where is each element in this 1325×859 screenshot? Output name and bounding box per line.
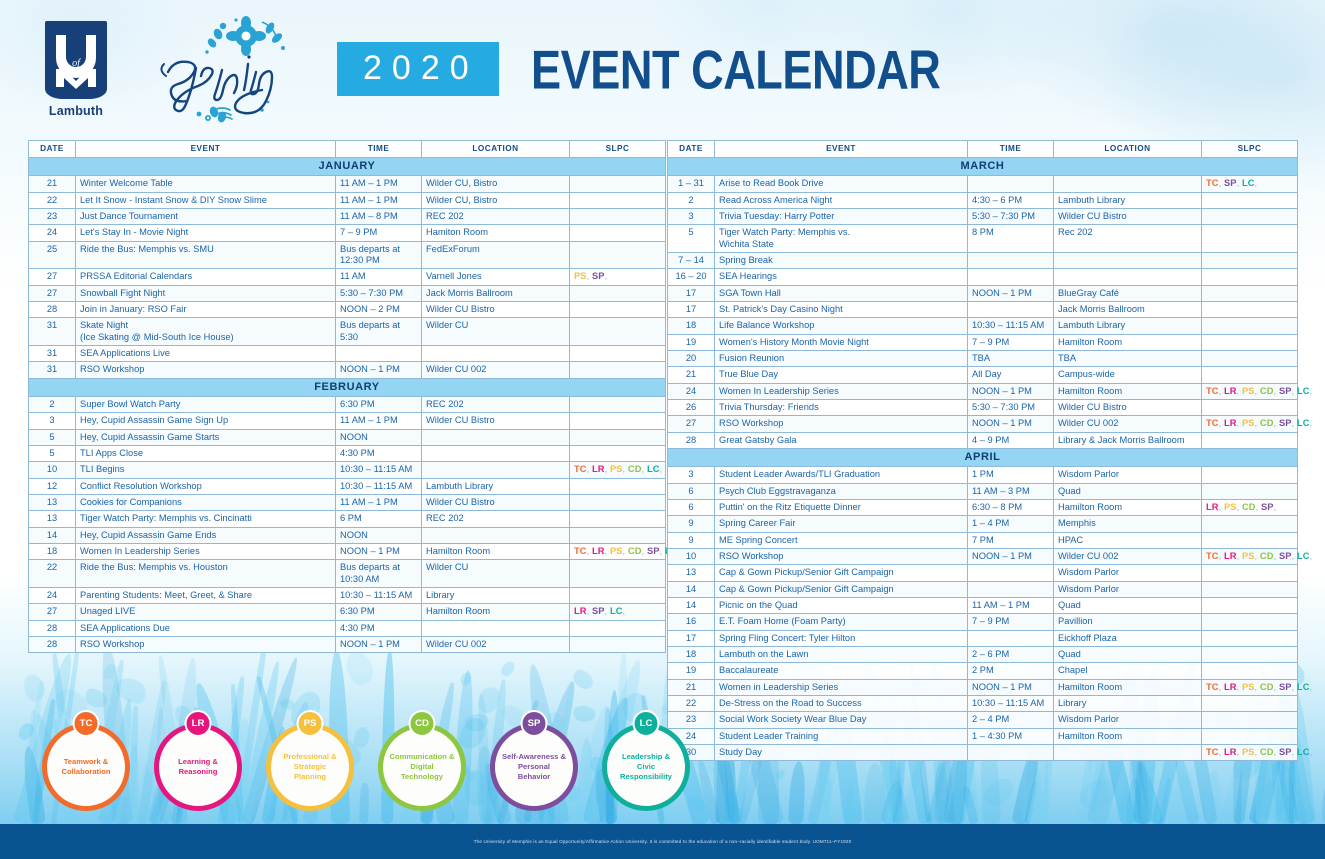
table-row[interactable]: 13Tiger Watch Party: Memphis vs. Cincina… — [29, 511, 666, 527]
event-date-cell: 31 — [29, 318, 76, 346]
table-row[interactable]: 1 – 31Arise to Read Book DriveTC, SP, LC… — [668, 176, 1298, 192]
slpc-tag-ps: PS — [1242, 418, 1255, 428]
event-date-cell: 27 — [29, 604, 76, 620]
event-location-cell: TBA — [1054, 351, 1202, 367]
event-time-cell: 2 PM — [968, 663, 1054, 679]
event-time-cell: 11 AM – 1 PM — [336, 413, 422, 429]
slpc-tag-sp: SP — [592, 271, 605, 281]
table-row[interactable]: 18Lambuth on the Lawn2 – 6 PMQuad — [668, 647, 1298, 663]
event-name-cell: Puttin' on the Ritz Etiquette Dinner — [715, 500, 968, 516]
slpc-tag-separator: , — [1310, 551, 1313, 561]
table-row[interactable]: 2Read Across America Night4:30 – 6 PMLam… — [668, 192, 1298, 208]
event-time-cell — [968, 581, 1054, 597]
event-name-cell: Women In Leadership Series — [715, 383, 968, 399]
event-location-cell: REC 202 — [422, 209, 570, 225]
event-time-cell: 10:30 – 11:15 AM — [336, 588, 422, 604]
table-row[interactable]: 14Picnic on the Quad11 AM – 1 PMQuad — [668, 598, 1298, 614]
table-row[interactable]: 3Hey, Cupid Assassin Game Sign Up11 AM –… — [29, 413, 666, 429]
slpc-tags-cell — [1202, 532, 1298, 548]
slpc-tag-cd: CD — [628, 546, 642, 556]
event-location-cell: Hamiton Room — [422, 225, 570, 241]
table-row[interactable]: 10RSO WorkshopNOON – 1 PMWilder CU 002TC… — [668, 549, 1298, 565]
table-row[interactable]: 20Fusion ReunionTBATBA — [668, 351, 1298, 367]
slpc-tags-cell — [1202, 516, 1298, 532]
event-time-cell: 8 PM — [968, 225, 1054, 253]
event-location-cell: Lambuth Library — [422, 478, 570, 494]
event-location-cell: REC 202 — [422, 397, 570, 413]
event-name-cell: Student Leader Training — [715, 728, 968, 744]
legend-label: Learning &Reasoning — [178, 757, 218, 778]
event-location-cell: Wilder CU 002 — [1054, 416, 1202, 432]
table-row[interactable]: 12Conflict Resolution Workshop10:30 – 11… — [29, 478, 666, 494]
event-location-cell: Eickhoff Plaza — [1054, 630, 1202, 646]
table-row[interactable]: 2Super Bowl Watch Party6:30 PMREC 202 — [29, 397, 666, 413]
slpc-tag-cd: CD — [628, 464, 642, 474]
event-time-cell: NOON – 1 PM — [968, 679, 1054, 695]
event-time-cell: NOON — [336, 429, 422, 445]
table-row[interactable]: 6Puttin' on the Ritz Etiquette Dinner6:3… — [668, 500, 1298, 516]
event-date-cell: 3 — [668, 209, 715, 225]
event-time-cell: 11 AM – 1 PM — [336, 495, 422, 511]
table-row[interactable]: 19Baccalaureate2 PMChapel — [668, 663, 1298, 679]
column-header-location: LOCATION — [422, 141, 570, 158]
slpc-tags-cell — [1202, 712, 1298, 728]
event-date-cell: 9 — [668, 516, 715, 532]
event-name-cell: Let It Snow - Instant Snow & DIY Snow Sl… — [76, 192, 336, 208]
event-name-cell: Super Bowl Watch Party — [76, 397, 336, 413]
event-location-cell: Quad — [1054, 647, 1202, 663]
event-date-cell: 27 — [668, 416, 715, 432]
event-name-cell: Skate Night(Ice Skating @ Mid-South Ice … — [76, 318, 336, 346]
slpc-tags-cell: TC, LR, PS, CD, SP, LC, — [1202, 549, 1298, 565]
slpc-tag-separator: , — [605, 271, 608, 281]
slpc-tag-separator: , — [1310, 386, 1313, 396]
slpc-tags-cell — [570, 241, 666, 269]
event-date-cell: 14 — [29, 527, 76, 543]
month-band-february: FEBRUARY — [29, 378, 666, 396]
slpc-tags-cell — [1202, 467, 1298, 483]
table-row[interactable]: 6Psych Club Eggstravaganza11 AM – 3 PMQu… — [668, 483, 1298, 499]
event-location-cell — [422, 446, 570, 462]
column-header-slpc: SLPC — [570, 141, 666, 158]
legend-item-cd[interactable]: Communication &Digital TechnologyCD — [378, 710, 466, 811]
table-row[interactable]: 3Trivia Tuesday: Harry Potter5:30 – 7:30… — [668, 209, 1298, 225]
slpc-tags-cell — [570, 302, 666, 318]
event-location-cell: Wilder CU Bistro — [1054, 209, 1202, 225]
table-row[interactable]: 27Unaged LIVE6:30 PMHamilton RoomLR, SP,… — [29, 604, 666, 620]
table-row[interactable]: 17Spring Fling Concert: Tyler HiltonEick… — [668, 630, 1298, 646]
month-label: MARCH — [668, 158, 1298, 176]
table-row[interactable]: 24Women In Leadership SeriesNOON – 1 PMH… — [668, 383, 1298, 399]
event-time-cell: 1 – 4 PM — [968, 516, 1054, 532]
slpc-tags-cell — [570, 429, 666, 445]
legend-item-lc[interactable]: Leadership &Civic ResponsibilityLC — [602, 710, 690, 811]
event-time-cell — [336, 346, 422, 362]
event-time-cell: NOON – 1 PM — [968, 285, 1054, 301]
event-date-cell: 27 — [29, 269, 76, 285]
footer-disclaimer: The University of Memphis is an Equal Op… — [474, 839, 852, 844]
event-time-cell: 6 PM — [336, 511, 422, 527]
event-location-cell: Wilder CU Bistro — [422, 413, 570, 429]
event-location-cell — [422, 527, 570, 543]
slpc-tags-cell — [570, 637, 666, 653]
table-row[interactable]: 31RSO WorkshopNOON – 1 PMWilder CU 002 — [29, 362, 666, 378]
slpc-tag-lr: LR — [1224, 682, 1237, 692]
event-name-cell: Picnic on the Quad — [715, 598, 968, 614]
event-date-cell: 27 — [29, 285, 76, 301]
event-date-cell: 28 — [29, 302, 76, 318]
slpc-tag-lc: LC — [1297, 747, 1310, 757]
table-row[interactable]: 5Hey, Cupid Assassin Game StartsNOON — [29, 429, 666, 445]
event-location-cell: Library — [1054, 695, 1202, 711]
slpc-tags-cell — [570, 446, 666, 462]
slpc-tag-ps: PS — [1224, 502, 1237, 512]
table-row[interactable]: 9ME Spring Concert7 PMHPAC — [668, 532, 1298, 548]
event-time-cell: 11 AM — [336, 269, 422, 285]
table-header-row: DATEEVENTTIMELOCATIONSLPC — [668, 141, 1298, 158]
table-row[interactable]: 27PRSSA Editorial Calendars11 AMVarnell … — [29, 269, 666, 285]
table-row[interactable]: 13Cookies for Companions11 AM – 1 PMWild… — [29, 495, 666, 511]
table-row[interactable]: 22De-Stress on the Road to Success10:30 … — [668, 695, 1298, 711]
slpc-tags-cell — [570, 478, 666, 494]
event-name-cell: Life Balance Workshop — [715, 318, 968, 334]
slpc-tags-cell — [1202, 581, 1298, 597]
table-row[interactable]: 27RSO WorkshopNOON – 1 PMWilder CU 002TC… — [668, 416, 1298, 432]
um-logo-mark: of — [45, 21, 107, 99]
slpc-tag-cd: CD — [1260, 682, 1274, 692]
event-name-cell: E.T. Foam Home (Foam Party) — [715, 614, 968, 630]
event-location-cell: Hamilton Room — [1054, 383, 1202, 399]
table-row[interactable]: 31Skate Night(Ice Skating @ Mid-South Ic… — [29, 318, 666, 346]
event-location-cell: Wilder CU 002 — [422, 362, 570, 378]
page-header: of Lambuth — [0, 0, 1325, 138]
year-badge: 2020 — [337, 42, 499, 95]
legend-item-tc[interactable]: Teamwork &CollaborationTC — [42, 710, 130, 811]
table-row[interactable]: 3Student Leader Awards/TLI Graduation1 P… — [668, 467, 1298, 483]
slpc-tag-lr: LR — [1224, 386, 1237, 396]
event-location-cell: Rec 202 — [1054, 225, 1202, 253]
slpc-tags-cell — [1202, 351, 1298, 367]
slpc-tags-cell — [570, 209, 666, 225]
event-name-cell: SEA Applications Due — [76, 620, 336, 636]
table-row[interactable]: 18Life Balance Workshop10:30 – 11:15 AML… — [668, 318, 1298, 334]
table-row[interactable]: 23Just Dance Tournament11 AM – 8 PMREC 2… — [29, 209, 666, 225]
slpc-tag-separator: , — [1310, 418, 1313, 428]
slpc-tag-lr: LR — [1224, 418, 1237, 428]
event-location-cell: Lambuth Library — [1054, 192, 1202, 208]
event-location-cell: Wilder CU 002 — [1054, 549, 1202, 565]
logo-caption: Lambuth — [40, 104, 112, 118]
slpc-tag-sp: SP — [1261, 502, 1274, 512]
table-row[interactable]: 24Parenting Students: Meet, Greet, & Sha… — [29, 588, 666, 604]
event-time-cell: Bus departs at 5:30 — [336, 318, 422, 346]
event-name-cell: SGA Town Hall — [715, 285, 968, 301]
slpc-tags-cell — [570, 362, 666, 378]
event-name-cell: Baccalaureate — [715, 663, 968, 679]
table-row[interactable]: 27Snowball Fight Night5:30 – 7:30 PMJack… — [29, 285, 666, 301]
slpc-tag-lc: LC — [610, 606, 623, 616]
event-time-cell — [968, 302, 1054, 318]
event-date-cell: 24 — [668, 383, 715, 399]
event-name-cell: Hey, Cupid Assassin Game Sign Up — [76, 413, 336, 429]
slpc-tags-cell: TC, LR, PS, CD, SP, LC, — [1202, 416, 1298, 432]
event-name-cell: Women In Leadership Series — [76, 544, 336, 560]
event-time-cell: 2 – 4 PM — [968, 712, 1054, 728]
event-name-cell: Ride the Bus: Memphis vs. SMU — [76, 241, 336, 269]
slpc-tags-cell: PS, SP, — [570, 269, 666, 285]
event-date-cell: 24 — [29, 225, 76, 241]
event-date-cell: 10 — [29, 462, 76, 478]
event-date-cell: 28 — [29, 620, 76, 636]
slpc-tag-tc: TC — [574, 546, 587, 556]
event-location-cell: Wilder CU 002 — [422, 637, 570, 653]
table-row[interactable]: 22Let It Snow - Instant Snow & DIY Snow … — [29, 192, 666, 208]
slpc-tag-separator: , — [660, 464, 663, 474]
table-row[interactable]: 24Student Leader Training1 – 4:30 PMHami… — [668, 728, 1298, 744]
event-date-cell: 28 — [668, 432, 715, 448]
event-location-cell: Chapel — [1054, 663, 1202, 679]
slpc-tag-ps: PS — [610, 546, 623, 556]
table-row[interactable]: 7 – 14Spring Break — [668, 253, 1298, 269]
slpc-tags-cell — [570, 346, 666, 362]
event-date-cell: 9 — [668, 532, 715, 548]
event-date-cell: 20 — [668, 351, 715, 367]
slpc-tag-cd: CD — [1260, 551, 1274, 561]
event-name-cell: Spring Fling Concert: Tyler Hilton — [715, 630, 968, 646]
event-location-cell — [1054, 253, 1202, 269]
slpc-tag-cd: CD — [1260, 418, 1274, 428]
event-date-cell: 22 — [29, 192, 76, 208]
event-name-cell: Student Leader Awards/TLI Graduation — [715, 467, 968, 483]
column-header-date: DATE — [668, 141, 715, 158]
event-date-cell: 22 — [29, 560, 76, 588]
slpc-tags-cell — [570, 588, 666, 604]
slpc-tag-tc: TC — [1206, 747, 1219, 757]
event-date-cell: 2 — [668, 192, 715, 208]
footer-bar: The University of Memphis is an Equal Op… — [0, 824, 1325, 859]
event-date-cell: 3 — [29, 413, 76, 429]
event-date-cell: 26 — [668, 400, 715, 416]
slpc-tag-separator: , — [623, 606, 626, 616]
event-date-cell: 13 — [29, 495, 76, 511]
event-name-cell: Hey, Cupid Assassin Game Starts — [76, 429, 336, 445]
table-row[interactable]: 28RSO WorkshopNOON – 1 PMWilder CU 002 — [29, 637, 666, 653]
event-time-cell: 7 – 9 PM — [968, 614, 1054, 630]
event-name-cell: Great Gatsby Gala — [715, 432, 968, 448]
event-date-cell: 14 — [668, 598, 715, 614]
event-time-cell: NOON – 1 PM — [968, 549, 1054, 565]
event-name-cell: Let's Stay In - Movie Night — [76, 225, 336, 241]
slpc-tag-sp: SP — [1279, 418, 1292, 428]
event-location-cell: Wilder CU Bistro — [422, 302, 570, 318]
event-name-cell: Winter Welcome Table — [76, 176, 336, 192]
column-header-location: LOCATION — [1054, 141, 1202, 158]
table-row[interactable]: 16E.T. Foam Home (Foam Party)7 – 9 PMPav… — [668, 614, 1298, 630]
slpc-tag-tc: TC — [1206, 551, 1219, 561]
event-location-cell: Wisdom Parlor — [1054, 467, 1202, 483]
slpc-tags-cell — [1202, 598, 1298, 614]
event-location-cell — [422, 620, 570, 636]
month-band-january: JANUARY — [29, 158, 666, 176]
slpc-tags-cell: TC, LR, PS, CD, SP, LC, — [1202, 679, 1298, 695]
table-row[interactable]: 5Tiger Watch Party: Memphis vs.Wichita S… — [668, 225, 1298, 253]
slpc-tags-cell — [570, 495, 666, 511]
slpc-tags-cell — [1202, 647, 1298, 663]
event-location-cell: Campus-wide — [1054, 367, 1202, 383]
table-row[interactable]: 14Cap & Gown Pickup/Senior Gift Campaign… — [668, 581, 1298, 597]
column-header-time: TIME — [336, 141, 422, 158]
event-time-cell: All Day — [968, 367, 1054, 383]
legend-badge-sp: SP — [521, 710, 548, 737]
table-row[interactable]: 14Hey, Cupid Assassin Game EndsNOON — [29, 527, 666, 543]
slpc-tags-cell — [1202, 225, 1298, 253]
slpc-tag-separator: , — [1310, 682, 1313, 692]
event-date-cell: 5 — [29, 446, 76, 462]
slpc-tags-cell — [570, 225, 666, 241]
slpc-tag-sp: SP — [1279, 747, 1292, 757]
slpc-tag-lc: LC — [1242, 178, 1255, 188]
legend-badge-ps: PS — [297, 710, 324, 737]
event-name-cell: Fusion Reunion — [715, 351, 968, 367]
event-location-cell: Memphis — [1054, 516, 1202, 532]
slpc-tag-lr: LR — [592, 546, 605, 556]
event-time-cell — [968, 253, 1054, 269]
event-name-cell: True Blue Day — [715, 367, 968, 383]
event-location-cell — [422, 346, 570, 362]
slpc-tags-cell — [1202, 367, 1298, 383]
event-time-cell: 11 AM – 8 PM — [336, 209, 422, 225]
slpc-tag-ps: PS — [1242, 551, 1255, 561]
event-name-cell: Join in January: RSO Fair — [76, 302, 336, 318]
slpc-tag-cd: CD — [1242, 502, 1256, 512]
slpc-tags-cell: TC, LR, PS, CD, SP, LC, — [1202, 744, 1298, 760]
event-name-cell: Spring Career Fair — [715, 516, 968, 532]
calendar-column-left: DATEEVENTTIMELOCATIONSLPC JANUARY21Winte… — [28, 140, 666, 653]
event-time-cell: 6:30 PM — [336, 397, 422, 413]
slpc-tags-cell — [1202, 285, 1298, 301]
event-name-cell: Lambuth on the Lawn — [715, 647, 968, 663]
slpc-tags-cell — [570, 511, 666, 527]
event-location-cell: Pavillion — [1054, 614, 1202, 630]
table-row[interactable]: 19Women's History Month Movie Night7 – 9… — [668, 334, 1298, 350]
table-row[interactable]: 9Spring Career Fair1 – 4 PMMemphis — [668, 516, 1298, 532]
event-time-cell: 11 AM – 1 PM — [968, 598, 1054, 614]
slpc-tags-cell: TC, SP, LC, — [1202, 176, 1298, 192]
slpc-tags-cell — [1202, 483, 1298, 499]
event-location-cell: Wilder CU, Bistro — [422, 176, 570, 192]
legend-item-ps[interactable]: Professional &Strategic PlanningPS — [266, 710, 354, 811]
table-row[interactable]: 18Women In Leadership SeriesNOON – 1 PMH… — [29, 544, 666, 560]
event-date-cell: 13 — [668, 565, 715, 581]
table-row[interactable]: 28Great Gatsby Gala4 – 9 PMLibrary & Jac… — [668, 432, 1298, 448]
event-date-cell: 21 — [668, 367, 715, 383]
event-time-cell — [968, 269, 1054, 285]
table-row[interactable]: 21Women in Leadership SeriesNOON – 1 PMH… — [668, 679, 1298, 695]
event-location-cell — [1054, 269, 1202, 285]
event-time-cell — [968, 744, 1054, 760]
event-location-cell: Wilder CU Bistro — [1054, 400, 1202, 416]
slpc-tag-cd: CD — [1260, 747, 1274, 757]
event-date-cell: 5 — [668, 225, 715, 253]
event-location-cell: BlueGray Café — [1054, 285, 1202, 301]
event-name-cell: Women in Leadership Series — [715, 679, 968, 695]
table-row[interactable]: 23Social Work Society Wear Blue Day2 – 4… — [668, 712, 1298, 728]
slpc-tag-lc: LC — [1297, 418, 1310, 428]
event-time-cell: 5:30 – 7:30 PM — [968, 400, 1054, 416]
event-time-cell: 6:30 PM — [336, 604, 422, 620]
event-time-cell: 2 – 6 PM — [968, 647, 1054, 663]
event-date-cell: 7 – 14 — [668, 253, 715, 269]
table-row[interactable]: 13Cap & Gown Pickup/Senior Gift Campaign… — [668, 565, 1298, 581]
event-time-cell: 1 PM — [968, 467, 1054, 483]
event-date-cell: 31 — [29, 362, 76, 378]
event-location-cell: Hamilton Room — [422, 544, 570, 560]
slpc-tag-separator: , — [1274, 502, 1277, 512]
slpc-tag-lc: LC — [647, 464, 660, 474]
table-row[interactable]: 16 – 20SEA Hearings — [668, 269, 1298, 285]
event-date-cell: 25 — [29, 241, 76, 269]
table-row[interactable]: 17St. Patrick's Day Casino NightJack Mor… — [668, 302, 1298, 318]
legend-item-sp[interactable]: Self-Awareness &Personal BehaviorSP — [490, 710, 578, 811]
column-header-event: EVENT — [715, 141, 968, 158]
table-row[interactable]: 21Winter Welcome Table11 AM – 1 PMWilder… — [29, 176, 666, 192]
column-header-time: TIME — [968, 141, 1054, 158]
table-row[interactable]: 17SGA Town HallNOON – 1 PMBlueGray Café — [668, 285, 1298, 301]
table-row[interactable]: 28Join in January: RSO FairNOON – 2 PMWi… — [29, 302, 666, 318]
slpc-tags-cell: LR, PS, CD, SP, — [1202, 500, 1298, 516]
table-row[interactable]: 10TLI Begins10:30 – 11:15 AMTC, LR, PS, … — [29, 462, 666, 478]
event-date-cell: 12 — [29, 478, 76, 494]
table-row[interactable]: 24Let's Stay In - Movie Night7 – 9 PMHam… — [29, 225, 666, 241]
table-row[interactable]: 22Ride the Bus: Memphis vs. HoustonBus d… — [29, 560, 666, 588]
um-logo-letters: of — [50, 29, 102, 91]
slpc-tag-sp: SP — [592, 606, 605, 616]
event-date-cell: 16 – 20 — [668, 269, 715, 285]
event-location-cell: Hamilton Room — [1054, 728, 1202, 744]
table-row[interactable]: 5TLI Apps Close4:30 PM — [29, 446, 666, 462]
event-time-cell: 11 AM – 1 PM — [336, 192, 422, 208]
table-row[interactable]: 21True Blue DayAll DayCampus-wide — [668, 367, 1298, 383]
event-name-cell: St. Patrick's Day Casino Night — [715, 302, 968, 318]
event-name-cell: Just Dance Tournament — [76, 209, 336, 225]
table-row[interactable]: 28SEA Applications Due4:30 PM — [29, 620, 666, 636]
table-row[interactable]: 31SEA Applications Live — [29, 346, 666, 362]
event-location-cell: Library — [422, 588, 570, 604]
slpc-tags-cell — [570, 192, 666, 208]
event-name-cell: Parenting Students: Meet, Greet, & Share — [76, 588, 336, 604]
event-location-cell: Lambuth Library — [1054, 318, 1202, 334]
table-row[interactable]: 26Trivia Thursday: Friends5:30 – 7:30 PM… — [668, 400, 1298, 416]
spring-script-logo — [150, 14, 315, 124]
slpc-tags-cell — [1202, 663, 1298, 679]
slpc-tags-cell — [1202, 302, 1298, 318]
event-time-cell: NOON – 1 PM — [336, 544, 422, 560]
event-time-cell: 4:30 PM — [336, 446, 422, 462]
university-logo: of Lambuth — [40, 21, 112, 118]
table-row[interactable]: 30Study DayTC, LR, PS, CD, SP, LC, — [668, 744, 1298, 760]
event-name-cell: Unaged LIVE — [76, 604, 336, 620]
slpc-tags-cell: LR, SP, LC, — [570, 604, 666, 620]
event-name-cell: Trivia Thursday: Friends — [715, 400, 968, 416]
event-time-cell: 7 – 9 PM — [968, 334, 1054, 350]
svg-text:of: of — [72, 58, 81, 69]
slpc-tag-ps: PS — [1242, 386, 1255, 396]
slpc-tag-lc: LC — [1297, 386, 1310, 396]
legend-item-lr[interactable]: Learning &ReasoningLR — [154, 710, 242, 811]
event-name-cell: Women's History Month Movie Night — [715, 334, 968, 350]
table-row[interactable]: 25Ride the Bus: Memphis vs. SMUBus depar… — [29, 241, 666, 269]
slpc-tag-lr: LR — [1224, 551, 1237, 561]
